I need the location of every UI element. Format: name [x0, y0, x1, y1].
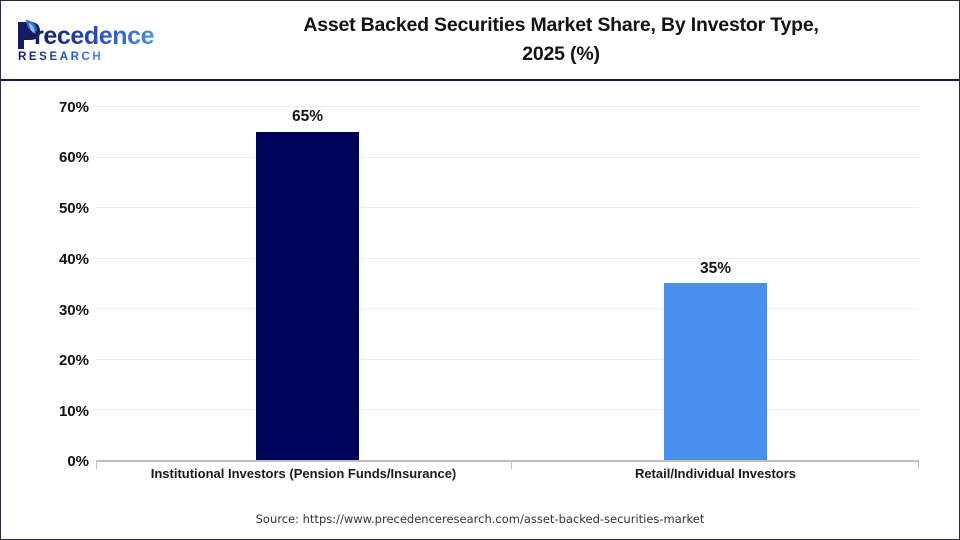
gridline-50 [96, 207, 919, 208]
bar-group-retail-individual-investors[interactable]: 35% [664, 106, 767, 460]
y-tick-label-30: 30% [17, 303, 89, 318]
bar-value-label-institutional-investors: 65% [256, 109, 359, 125]
y-tick-label-50: 50% [17, 201, 89, 216]
x-axis-label-retail-individual-investors: Retail/Individual Investors [512, 467, 919, 481]
y-tick-label-10: 10% [17, 404, 89, 419]
plot-area: 65% 35% [96, 106, 919, 460]
bar-value-label-retail-individual-investors: 35% [664, 261, 767, 277]
gridline-20 [96, 359, 919, 360]
bar-institutional-investors[interactable] [256, 132, 359, 461]
chart-figure: recedence RESEARCH Asset Backed Securiti… [0, 0, 960, 540]
y-axis: 70% 60% 50% 40% 30% 20% 10% 0% [9, 1, 89, 540]
gridline-30 [96, 308, 919, 309]
y-tick-label-0: 0% [17, 454, 89, 469]
bar-group-institutional-investors[interactable]: 65% [256, 106, 359, 460]
gridline-40 [96, 258, 919, 259]
page-title: Asset Backed Securities Market Share, By… [181, 11, 941, 69]
page-title-line-2: 2025 (%) [181, 40, 941, 69]
gridline-70 [96, 106, 919, 107]
source-note: Source: https://www.precedenceresearch.c… [1, 512, 959, 526]
page-title-line-1: Asset Backed Securities Market Share, By… [181, 11, 941, 40]
y-tick-label-40: 40% [17, 252, 89, 267]
y-tick-label-70: 70% [17, 100, 89, 115]
bar-retail-individual-investors[interactable] [664, 283, 767, 460]
chart-header: recedence RESEARCH Asset Backed Securiti… [1, 1, 959, 81]
y-tick-label-20: 20% [17, 353, 89, 368]
x-axis-label-institutional-investors: Institutional Investors (Pension Funds/I… [96, 467, 511, 481]
x-axis-line [96, 460, 919, 462]
gridline-60 [96, 157, 919, 158]
y-tick-label-60: 60% [17, 150, 89, 165]
gridline-10 [96, 409, 919, 410]
